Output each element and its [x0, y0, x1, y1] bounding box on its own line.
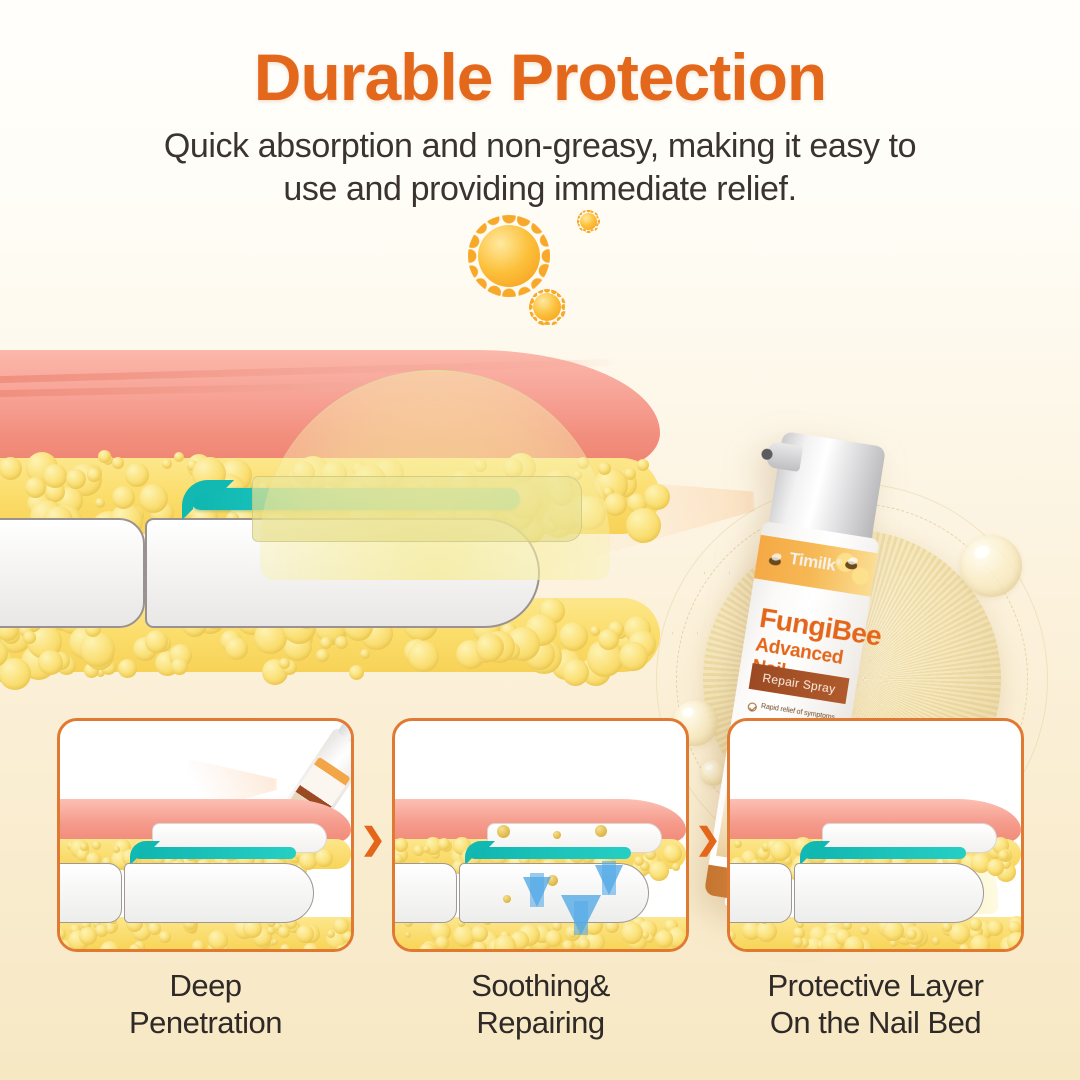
product-type-label: Repair Spray — [762, 671, 837, 696]
nail-bone-segment-2 — [124, 863, 314, 923]
nail-bed-hook — [182, 480, 234, 520]
step-caption-protective-layer: Protective Layer On the Nail Bed — [718, 968, 1033, 1041]
nail-cross-section — [0, 350, 660, 680]
page-title: Durable Protection — [0, 44, 1080, 111]
caption-line-2: On the Nail Bed — [718, 1005, 1033, 1042]
brand-text: Timilk — [788, 549, 837, 575]
step-card-soothing-repairing[interactable] — [392, 718, 689, 952]
nail-bone-segment-1 — [0, 518, 145, 628]
nail-bone-segment-1 — [57, 863, 122, 923]
fungus-spore — [595, 825, 607, 837]
step-caption-soothing-repairing: Soothing& Repairing — [392, 968, 689, 1041]
brand-band: Timilk® — [754, 535, 877, 597]
steps-section: ❯ ❯ — [0, 718, 1080, 1080]
step-caption-deep-penetration: Deep Penetration — [57, 968, 354, 1041]
nail-bone-segment-1 — [727, 863, 792, 923]
fungus-particle-small — [533, 293, 561, 321]
fungus-spore — [503, 895, 511, 903]
step-card-protective-layer[interactable] — [727, 718, 1024, 952]
nail-bed-hook — [130, 841, 160, 865]
nail-bed-hook — [800, 841, 830, 865]
bee-icon — [768, 556, 781, 566]
nail-cross-section — [60, 799, 351, 949]
caption-line-1: Soothing& — [392, 968, 689, 1005]
hero-illustration: Timilk® FungiBee Advanced Nail Repair Sp… — [0, 200, 1080, 720]
fungus-spore — [497, 825, 510, 838]
nail-bed-hook — [465, 841, 495, 865]
caption-line-2: Penetration — [57, 1005, 354, 1042]
fungus-particle-tiny — [580, 213, 597, 230]
honey-droplet — [960, 535, 1022, 597]
caption-line-1: Protective Layer — [718, 968, 1033, 1005]
spray-nozzle-icon — [766, 441, 804, 472]
page-subtitle: Quick absorption and non-greasy, making … — [0, 125, 1080, 211]
bottle-cap — [337, 718, 354, 751]
check-icon — [747, 702, 757, 712]
nail-bone-segment-2 — [794, 863, 984, 923]
fungus-spore — [553, 831, 561, 839]
penetration-arrow — [595, 865, 623, 895]
header-block: Durable Protection Quick absorption and … — [0, 0, 1080, 211]
penetration-arrow — [561, 895, 601, 935]
caption-line-2: Repairing — [392, 1005, 689, 1042]
step-card-deep-penetration[interactable] — [57, 718, 354, 952]
chevron-right-icon: ❯ — [356, 823, 390, 857]
nail-plate-surface — [252, 476, 582, 542]
nail-cross-section — [730, 799, 1021, 949]
caption-line-1: Deep — [57, 968, 354, 1005]
nail-cross-section — [395, 799, 686, 949]
fungus-particle-large — [478, 225, 540, 287]
nail-bone-segment-1 — [392, 863, 457, 923]
subtitle-line-2: use and providing immediate relief. — [0, 168, 1080, 211]
penetration-arrow — [523, 877, 551, 907]
chevron-right-icon: ❯ — [691, 823, 725, 857]
subtitle-line-1: Quick absorption and non-greasy, making … — [0, 125, 1080, 168]
